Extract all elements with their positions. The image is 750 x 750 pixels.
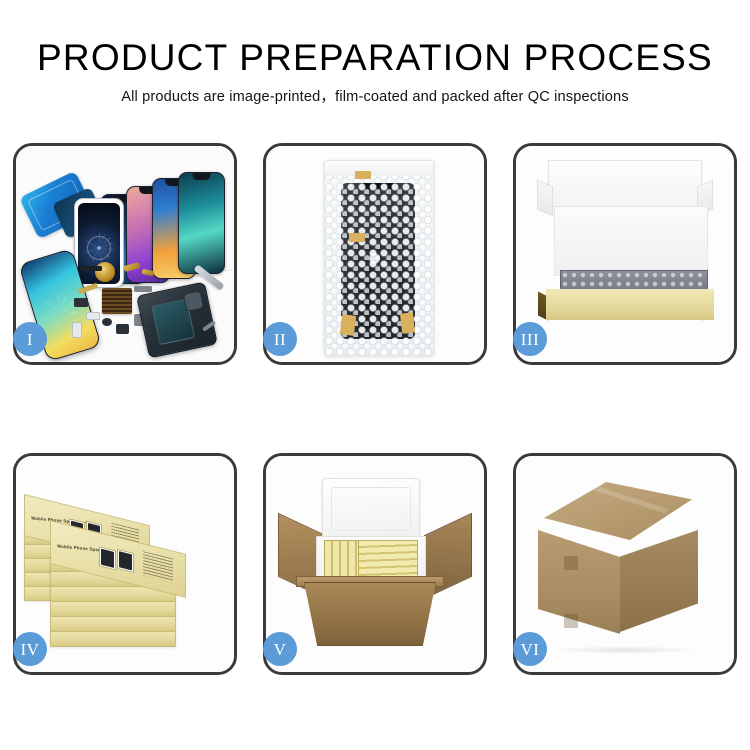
step-5-image: [266, 456, 484, 672]
step-4-image: Mobile Phone Spare Parts Mobile Phone: [16, 456, 234, 672]
tape-piece-4-icon: [400, 312, 415, 333]
bubble-wrap-bag-icon: [324, 160, 434, 356]
stacked-box-f5: [50, 616, 176, 632]
step-3-image: [516, 146, 734, 362]
component-button-icon: [102, 318, 112, 326]
box-thumb-front-1: [99, 546, 116, 570]
step-badge-6: VI: [513, 632, 547, 666]
yellow-boxes-contents-2-icon: [358, 540, 418, 578]
foam-sheet-icon: [554, 206, 708, 276]
product-preparation-page: PRODUCT PREPARATION PROCESS All products…: [0, 0, 750, 750]
carton-tape-mark-2-icon: [564, 614, 578, 628]
box-lid-icon: [548, 160, 702, 212]
process-step-panel-2[interactable]: II: [263, 143, 487, 365]
styrofoam-lid-icon: [322, 478, 420, 540]
box-thumb-front-2: [117, 549, 134, 573]
step-6-image: [516, 456, 734, 672]
process-step-panel-1[interactable]: I: [13, 143, 237, 365]
page-header: PRODUCT PREPARATION PROCESS All products…: [0, 36, 750, 107]
process-step-panel-6[interactable]: VI: [513, 453, 737, 675]
tape-piece-2-icon: [349, 233, 365, 242]
component-strip-icon: [80, 266, 102, 271]
component-black-chip-icon: [74, 298, 88, 307]
carton-tape-mark-1-icon: [564, 556, 578, 570]
component-metal-bracket-icon: [134, 286, 152, 292]
stacked-box-f6: [50, 631, 176, 647]
tape-piece-3-icon: [340, 314, 357, 336]
chip-array-icon: [102, 288, 132, 314]
step-badge-2: II: [263, 322, 297, 356]
component-sim-tray-icon: [72, 322, 82, 338]
bag-seal-icon: [325, 161, 433, 176]
page-title: PRODUCT PREPARATION PROCESS: [0, 36, 750, 80]
carton-shadow: [550, 646, 700, 654]
process-step-panel-3[interactable]: III: [513, 143, 737, 365]
step-badge-5: V: [263, 632, 297, 666]
tape-piece-1-icon: [355, 171, 371, 179]
process-step-grid: I: [13, 143, 737, 675]
process-step-panel-5[interactable]: V: [263, 453, 487, 675]
step-badge-3: III: [513, 322, 547, 356]
phone-device-4: [178, 172, 225, 274]
carton-front-panel-icon: [304, 582, 436, 646]
stacked-box-f4: [50, 601, 176, 617]
step-badge-4: IV: [13, 632, 47, 666]
box-spec-lines-front: [143, 551, 173, 582]
sealed-carton-right-face-icon: [620, 530, 698, 632]
step-2-image: [266, 146, 484, 362]
step-badge-1: I: [13, 322, 47, 356]
process-step-panel-4[interactable]: Mobile Phone Spare Parts Mobile Phone: [13, 453, 237, 675]
page-subtitle: All products are image-printed，film-coat…: [0, 87, 750, 107]
box-front-panel-icon: [546, 292, 714, 320]
speaker-module-icon: [95, 262, 115, 282]
step-1-image: [16, 146, 234, 362]
component-connector-icon: [86, 312, 100, 320]
sealed-carton-left-face-icon: [538, 530, 620, 634]
component-camera-icon: [116, 324, 129, 334]
sealed-carton-top-icon: [544, 482, 692, 540]
